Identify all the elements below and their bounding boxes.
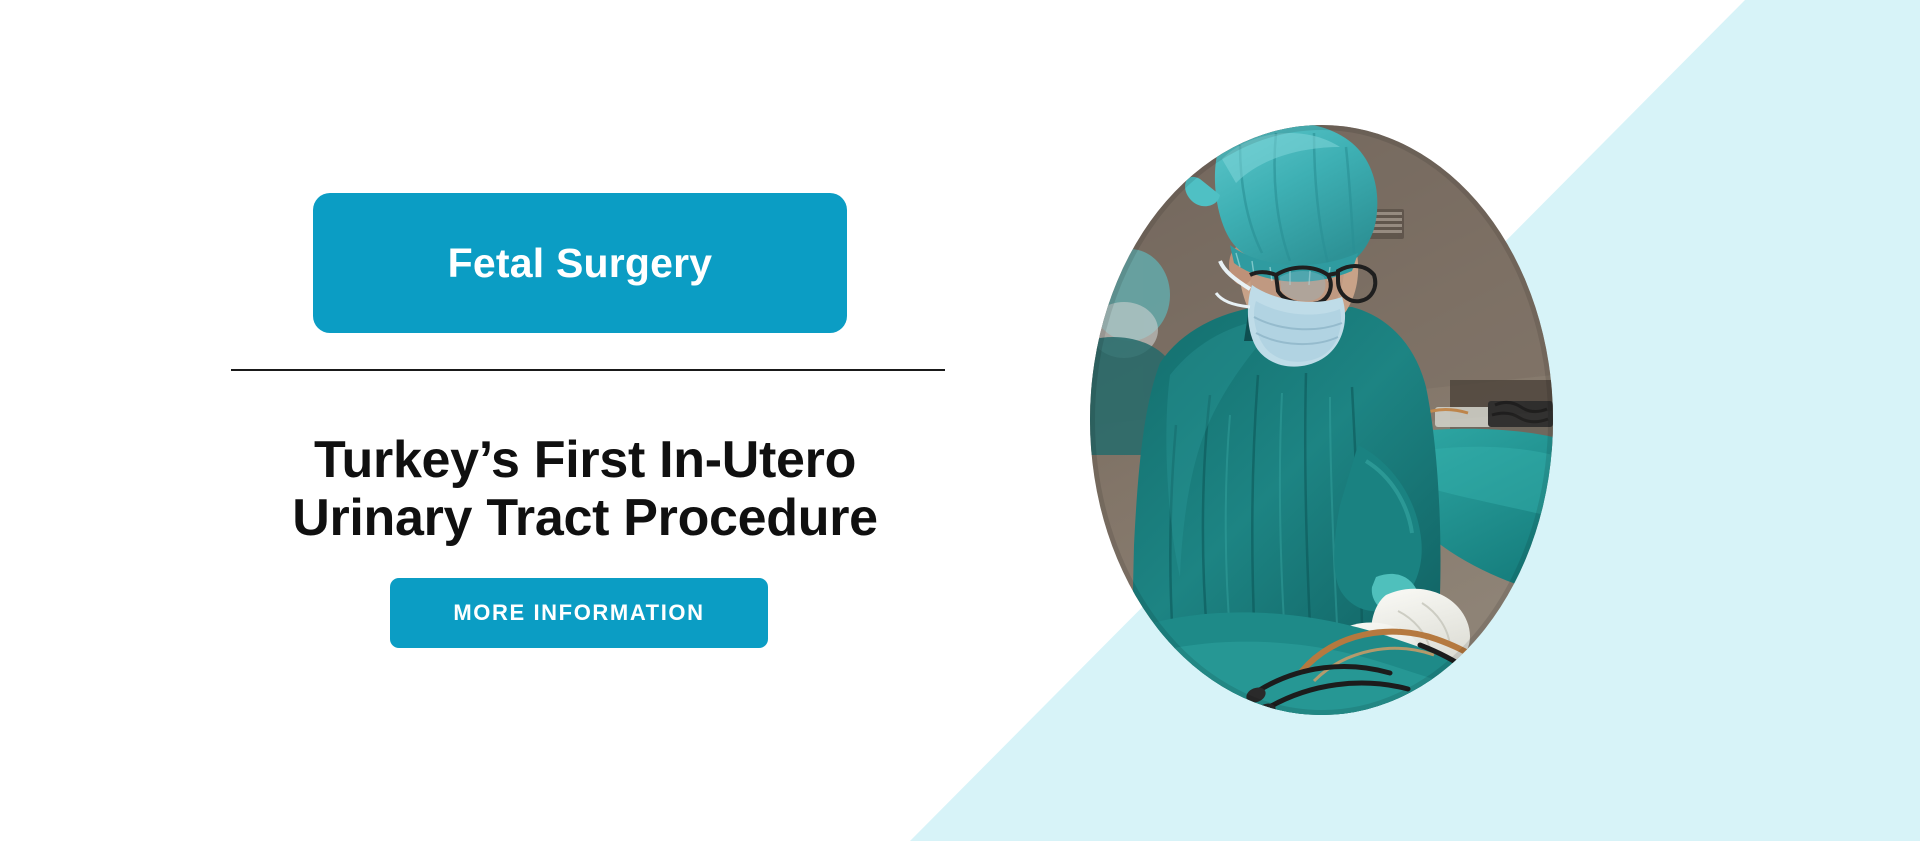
- surgery-photo-image: [1090, 125, 1553, 715]
- more-information-button[interactable]: MORE INFORMATION: [390, 578, 768, 648]
- category-badge-label: Fetal Surgery: [448, 243, 713, 284]
- surgery-photo: [1090, 125, 1553, 715]
- page-title-line-2: Urinary Tract Procedure: [150, 489, 1020, 547]
- more-information-button-label: MORE INFORMATION: [453, 602, 704, 624]
- category-badge[interactable]: Fetal Surgery: [313, 193, 847, 333]
- hero-content-column: Fetal Surgery Turkey’s First In-Utero Ur…: [0, 0, 960, 841]
- hero-banner: Fetal Surgery Turkey’s First In-Utero Ur…: [0, 0, 1920, 841]
- headline-divider: [231, 369, 945, 371]
- page-title: Turkey’s First In-Utero Urinary Tract Pr…: [150, 431, 1020, 547]
- page-title-line-1: Turkey’s First In-Utero: [150, 431, 1020, 489]
